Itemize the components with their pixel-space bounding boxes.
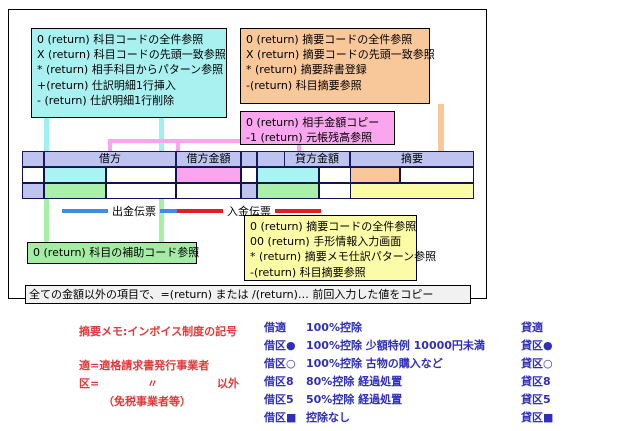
journal-entry-table: 借方 借方金額 貸方 貸方金額 摘要 xyxy=(22,151,474,200)
table-header-summary: 摘要 xyxy=(350,151,474,167)
cell-debit-account-name[interactable] xyxy=(106,167,176,183)
callout-line: 0 (return) 相手金額コピー xyxy=(246,115,389,130)
cell-debit-tax[interactable] xyxy=(176,183,241,199)
callout-line: -1 (return) 元帳残高参照 xyxy=(246,130,389,145)
legend-credit-tax-codes: 貸適 貸区● 貸区○ 貸区8 貸区5 貸区■ xyxy=(521,319,553,427)
list-item: 借区5 50%控除 経過処置 xyxy=(264,391,485,409)
list-item: 貸区■ xyxy=(521,409,553,427)
cell-summary-code[interactable] xyxy=(350,167,400,183)
screenshot-root: 0 (return) 科目コードの全件参照 X (return) 科目コードの先… xyxy=(0,0,631,431)
callout-line: * (return) 摘要メモ仕訳パターン参照 xyxy=(250,249,411,264)
tax-code-credit: 貸区■ xyxy=(521,409,553,427)
tax-code-desc: 100%控除 古物の購入など xyxy=(306,355,443,373)
list-item: 借適 100%控除 xyxy=(264,319,485,337)
callout-sub-code-help: 0 (return) 科目の補助コード参照 xyxy=(27,242,197,264)
list-item: 貸区8 xyxy=(521,373,553,391)
tax-code-debit: 借区○ xyxy=(264,355,306,373)
tax-code-desc: 100%控除 xyxy=(306,319,362,337)
callout-line: +(return) 仕訳明細1行挿入 xyxy=(37,78,221,93)
tax-code-desc: 100%控除 少額特例 10000円未満 xyxy=(306,337,485,355)
legend-red-qualified: 適=適格請求書発行事業者 xyxy=(79,357,209,373)
journal-entry-diagram: 0 (return) 科目コードの全件参照 X (return) 科目コードの先… xyxy=(8,9,487,299)
callout-line: - (return) 仕訳明細1行削除 xyxy=(37,93,221,108)
callout-line: X (return) 科目コードの先頭一致参照 xyxy=(37,47,221,62)
callout-line: 0 (return) 摘要コードの全件参照 xyxy=(250,219,411,234)
legend-debit-tax-codes: 借適 100%控除 借区● 100%控除 少額特例 10000円未満 借区○ 1… xyxy=(264,319,485,427)
tax-code-debit: 借適 xyxy=(264,319,306,337)
list-item: 貸区5 xyxy=(521,391,553,409)
callout-memo-code-help: 0 (return) 摘要コードの全件参照 X (return) 摘要コードの先… xyxy=(240,28,430,104)
list-item: 貸区○ xyxy=(521,355,553,373)
list-item: 借区8 80%控除 経過処置 xyxy=(264,373,485,391)
table-row[interactable] xyxy=(22,167,44,183)
callout-summary-memo-help: 0 (return) 摘要コードの全件参照 00 (return) 手形情報入力… xyxy=(244,215,417,281)
table-header-credit-amount: 貸方金額 xyxy=(284,151,350,167)
legend-red-ditto: 〃 xyxy=(147,375,158,391)
cell-spacer-1[interactable] xyxy=(241,167,257,183)
callout-line: * (return) 相手科目からパターン参照 xyxy=(37,62,221,77)
list-item: 借区■ 控除なし xyxy=(264,409,485,427)
list-item: 貸適 xyxy=(521,319,553,337)
note-copy-previous-value: 全ての金額以外の項目で、=(return) または /(return)… 前回入… xyxy=(25,285,471,304)
bar-blue-left xyxy=(62,209,108,213)
tax-code-credit: 貸適 xyxy=(521,319,543,337)
cell-debit-sub-code[interactable] xyxy=(44,183,106,199)
cell-spacer-2[interactable] xyxy=(241,183,257,199)
tax-code-debit: 借区■ xyxy=(264,409,306,427)
callout-line: 00 (return) 手形情報入力画面 xyxy=(250,234,411,249)
table-header-rownum xyxy=(22,151,44,167)
cell-summary-memo[interactable] xyxy=(350,183,474,199)
callout-account-code-help: 0 (return) 科目コードの全件参照 X (return) 科目コードの先… xyxy=(31,28,227,118)
legend-red-except: 以外 xyxy=(217,375,239,391)
cell-debit-sub-name[interactable] xyxy=(106,183,176,199)
cell-credit-account-code[interactable] xyxy=(257,167,319,183)
invoice-code-legend: 摘要メモ:インボイス制度の記号 適=適格請求書発行事業者 区= 〃 以外 （免税… xyxy=(0,305,631,431)
callout-line: X (return) 摘要コードの先頭一致参照 xyxy=(246,47,424,62)
callout-line: 0 (return) 科目コードの全件参照 xyxy=(37,32,221,47)
table-header-debit-amount: 借方金額 xyxy=(176,151,241,167)
table-row[interactable] xyxy=(22,183,44,199)
callout-line: * (return) 摘要辞書登録 xyxy=(246,62,424,77)
tax-code-credit: 貸区○ xyxy=(521,355,553,373)
legend-red-title: 摘要メモ:インボイス制度の記号 xyxy=(79,323,237,339)
cell-debit-account-code[interactable] xyxy=(44,167,106,183)
callout-amount-help: 0 (return) 相手金額コピー -1 (return) 元帳残高参照 xyxy=(240,111,395,145)
list-item: 貸区● xyxy=(521,337,553,355)
bar-red-right xyxy=(275,209,321,213)
tax-code-credit: 貸区5 xyxy=(521,391,551,409)
callout-line: 0 (return) 摘要コードの全件参照 xyxy=(246,32,424,47)
table-header-spacer xyxy=(241,151,257,167)
tax-code-debit: 借区● xyxy=(264,337,306,355)
tax-code-desc: 控除なし xyxy=(306,409,350,427)
callout-line: -(return) 科目摘要参照 xyxy=(246,78,424,93)
cell-summary-text[interactable] xyxy=(400,167,474,183)
tax-code-credit: 貸区● xyxy=(521,337,553,355)
table-header-debit: 借方 xyxy=(44,151,176,167)
list-item: 借区○ 100%控除 古物の購入など xyxy=(264,355,485,373)
tax-code-desc: 80%控除 経過処置 xyxy=(306,373,402,391)
legend-label: 出金伝票 xyxy=(112,203,156,219)
tax-code-desc: 50%控除 経過処置 xyxy=(306,391,402,409)
callout-line: -(return) 科目摘要参照 xyxy=(250,265,411,280)
tax-code-credit: 貸区8 xyxy=(521,373,551,391)
cell-credit-sub-code[interactable] xyxy=(257,183,319,199)
bar-red-left xyxy=(177,209,223,213)
cell-debit-amount[interactable] xyxy=(176,167,241,183)
tax-code-debit: 借区8 xyxy=(264,373,306,391)
list-item: 借区● 100%控除 少額特例 10000円未満 xyxy=(264,337,485,355)
legend-red-ku-label: 区= xyxy=(79,375,99,391)
legend-red-exempt: （免税事業者等） xyxy=(103,393,191,409)
callout-line: 0 (return) 科目の補助コード参照 xyxy=(33,245,191,261)
tax-code-debit: 借区5 xyxy=(264,391,306,409)
